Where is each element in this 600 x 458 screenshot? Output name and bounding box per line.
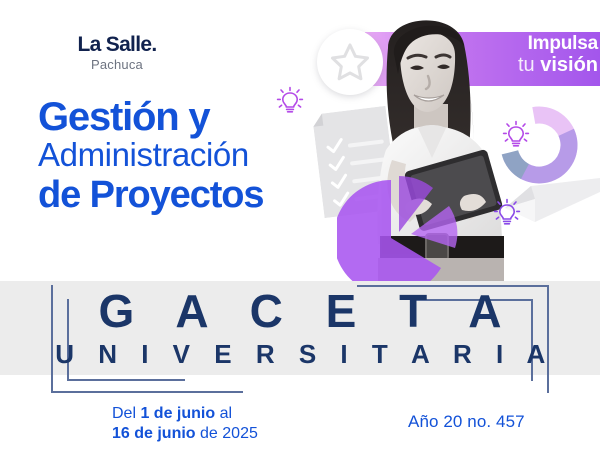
logo-wordmark: La Salle.	[52, 34, 182, 55]
date-start: 1 de junio	[140, 405, 215, 422]
date-prefix: Del	[112, 405, 140, 422]
logo-dot: .	[151, 33, 156, 56]
logo-campus: Pachuca	[52, 58, 182, 71]
pie-chart	[337, 172, 461, 294]
impulsa-banner-text: Impulsa tu visión	[478, 34, 598, 86]
date-suffix: de 2025	[196, 425, 258, 442]
banner-line2-light: tu	[518, 54, 540, 76]
masthead: G A C E T A U N I V E R S I T A R I A	[0, 288, 600, 367]
headline-line-2: Administración	[38, 137, 338, 174]
la-salle-logo: La Salle. Pachuca	[52, 34, 182, 71]
headline-line-3: de Proyectos	[38, 174, 338, 217]
headline-line-1: Gestión y	[38, 98, 338, 137]
date-middle: al	[215, 405, 232, 422]
issue-number: Año 20 no. 457	[408, 412, 525, 432]
pie-chart-icon	[337, 172, 461, 294]
banner-line1: Impulsa	[478, 34, 598, 53]
lightbulb-icon-right-top	[501, 118, 531, 155]
bracket-left-inner-horizontal	[67, 379, 185, 381]
issue-date-line-1: Del 1 de junio al	[112, 404, 258, 424]
banner-line2: tu visión	[478, 55, 598, 75]
masthead-title: G A C E T A	[0, 288, 600, 334]
logo-main-text: La Salle	[78, 33, 152, 56]
issue-date-range: Del 1 de junio al 16 de junio de 2025	[112, 404, 258, 444]
lightbulb-icon-right-bottom	[492, 196, 522, 233]
bracket-left-outer-horizontal	[51, 391, 243, 393]
masthead-subtitle: U N I V E R S I T A R I A	[0, 341, 600, 367]
page-title: Gestión y Administración de Proyectos	[38, 98, 338, 217]
banner-line2-bold: visión	[540, 54, 598, 76]
date-end: 16 de junio	[112, 425, 196, 442]
issue-date-line-2: 16 de junio de 2025	[112, 424, 258, 444]
gaceta-universitaria-poster: Impulsa tu visión	[0, 0, 600, 458]
